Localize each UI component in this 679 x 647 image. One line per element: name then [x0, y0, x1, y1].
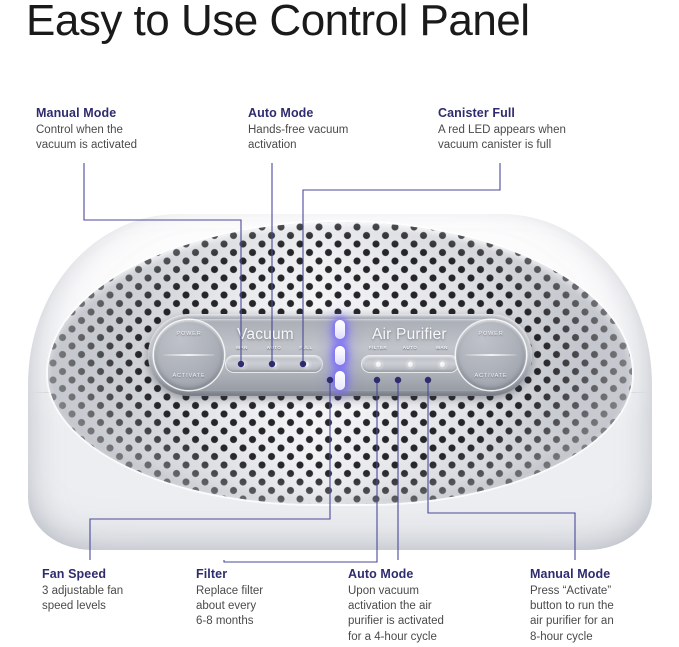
vacuum-power-activate-button[interactable]: POWER ACTIVATE — [154, 320, 224, 390]
callout-body: Hands-free vacuum activation — [248, 123, 348, 153]
fan-speed-segment-3 — [335, 320, 345, 339]
callout-body: Control when the vacuum is activated — [36, 123, 137, 153]
callout-body: Replace filter about every 6-8 months — [196, 584, 263, 630]
vacuum-led-full-indicator — [303, 361, 310, 368]
vacuum-led-caption-auto: AUTO — [267, 345, 282, 350]
callout-body: A red LED appears when vacuum canister i… — [438, 123, 566, 153]
vacuum-led-group — [226, 356, 322, 372]
page-title: Easy to Use Control Panel — [26, 0, 530, 46]
vacuum-activate-label: ACTIVATE — [173, 373, 206, 379]
callout-fan-speed: Fan Speed 3 adjustable fan speed levels — [42, 567, 123, 614]
vacuum-led-auto-indicator — [271, 361, 278, 368]
callout-auto-mode-vacuum: Auto Mode Hands-free vacuum activation — [248, 106, 348, 153]
purifier-led-caption-man: MAN — [436, 345, 448, 350]
product-illustration: POWER ACTIVATE Vacuum MAN AUTO FULL Air … — [0, 196, 679, 556]
callout-title: Auto Mode — [248, 106, 348, 120]
purifier-activate-label: ACTIVATE — [475, 373, 508, 379]
callout-title: Fan Speed — [42, 567, 123, 581]
callout-title: Manual Mode — [36, 106, 137, 120]
control-panel[interactable]: POWER ACTIVATE Vacuum MAN AUTO FULL Air … — [148, 314, 532, 396]
callout-body: Press “Activate” button to run the air p… — [530, 584, 614, 645]
vacuum-led-caption-man: MAN — [236, 345, 248, 350]
vacuum-led-man-indicator — [239, 361, 246, 368]
callout-filter: Filter Replace filter about every 6-8 mo… — [196, 567, 263, 630]
callout-title: Manual Mode — [530, 567, 614, 581]
purifier-button-divider — [465, 354, 517, 356]
callout-title: Canister Full — [438, 106, 566, 120]
purifier-led-filter-indicator — [375, 361, 382, 368]
purifier-led-auto-indicator — [407, 361, 414, 368]
callout-title: Auto Mode — [348, 567, 444, 581]
vacuum-section-label: Vacuum — [237, 326, 294, 344]
purifier-power-label: POWER — [478, 331, 503, 337]
callout-manual-mode-vacuum: Manual Mode Control when the vacuum is a… — [36, 106, 137, 153]
callout-auto-mode-purifier: Auto Mode Upon vacuum activation the air… — [348, 567, 444, 645]
callout-canister-full: Canister Full A red LED appears when vac… — [438, 106, 566, 153]
fan-speed-indicator — [333, 320, 347, 390]
purifier-led-caption-filter: FILTER — [369, 345, 387, 350]
callout-title: Filter — [196, 567, 263, 581]
air-purifier-power-activate-button[interactable]: POWER ACTIVATE — [456, 320, 526, 390]
callout-body: Upon vacuum activation the air purifier … — [348, 584, 444, 645]
fan-speed-segment-1 — [335, 371, 345, 390]
air-purifier-led-group — [362, 356, 458, 372]
vacuum-led-caption-full: FULL — [299, 345, 312, 350]
callout-body: 3 adjustable fan speed levels — [42, 584, 123, 614]
fan-speed-segment-2 — [335, 346, 345, 365]
callout-manual-mode-purifier: Manual Mode Press “Activate” button to r… — [530, 567, 614, 645]
vacuum-power-label: POWER — [176, 331, 201, 337]
purifier-led-caption-auto: AUTO — [403, 345, 418, 350]
air-purifier-section-label: Air Purifier — [372, 326, 447, 344]
vacuum-button-divider — [163, 354, 215, 356]
purifier-led-man-indicator — [439, 361, 446, 368]
